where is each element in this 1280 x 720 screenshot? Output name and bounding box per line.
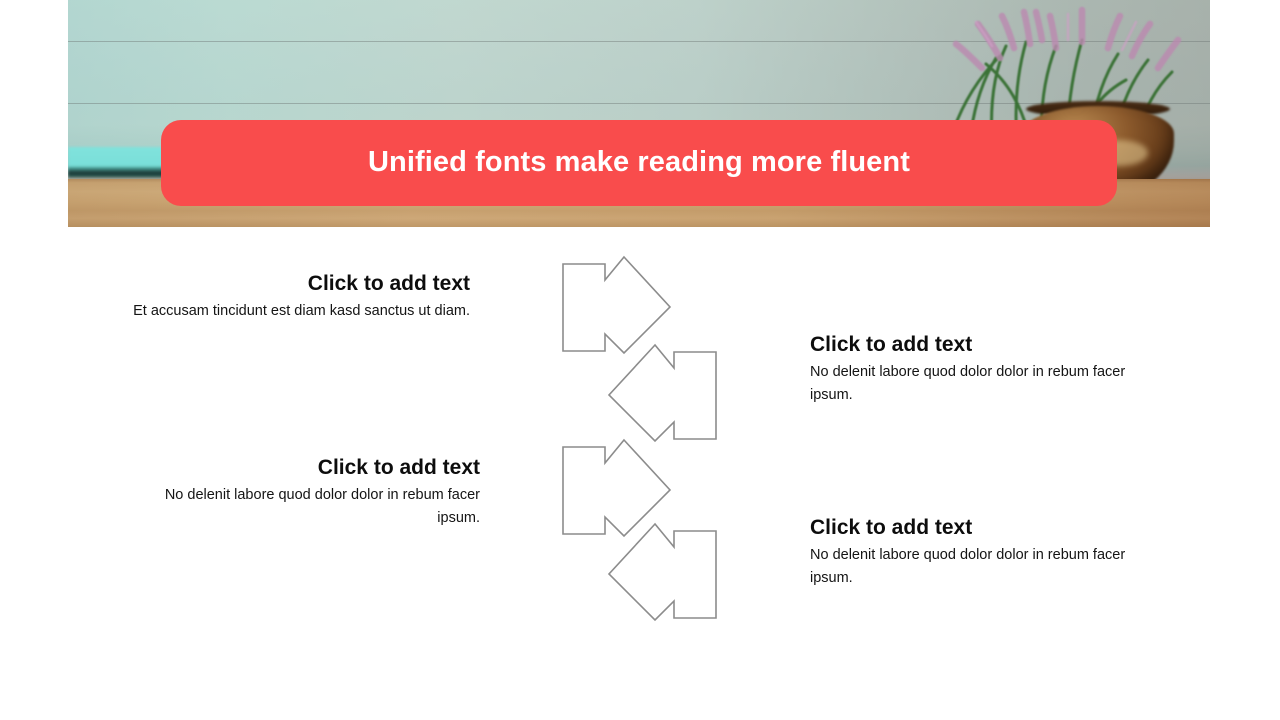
- text-block-body[interactable]: Et accusam tincidunt est diam kasd sanct…: [92, 300, 470, 323]
- slide-title: Unified fonts make reading more fluent: [368, 147, 910, 179]
- text-block-heading[interactable]: Click to add text: [92, 271, 470, 297]
- text-block-right-top[interactable]: Click to add text No delenit labore quod…: [810, 332, 1170, 408]
- text-block-body[interactable]: No delenit labore quod dolor dolor in re…: [810, 544, 1170, 590]
- text-block-left-bottom[interactable]: Click to add text No delenit labore quod…: [130, 455, 480, 531]
- slide-canvas: Unified fonts make reading more fluent C…: [0, 0, 1280, 720]
- text-block-heading[interactable]: Click to add text: [810, 332, 1170, 358]
- text-block-body[interactable]: No delenit labore quod dolor dolor in re…: [810, 361, 1170, 407]
- text-block-heading[interactable]: Click to add text: [810, 515, 1170, 541]
- text-block-left-top[interactable]: Click to add text Et accusam tincidunt e…: [92, 271, 470, 323]
- slide-body: Click to add text Et accusam tincidunt e…: [0, 227, 1280, 720]
- text-block-heading[interactable]: Click to add text: [130, 455, 480, 481]
- text-block-body[interactable]: No delenit labore quod dolor dolor in re…: [130, 484, 480, 530]
- text-block-right-bottom[interactable]: Click to add text No delenit labore quod…: [810, 515, 1170, 591]
- slide-title-bar[interactable]: Unified fonts make reading more fluent: [161, 120, 1117, 206]
